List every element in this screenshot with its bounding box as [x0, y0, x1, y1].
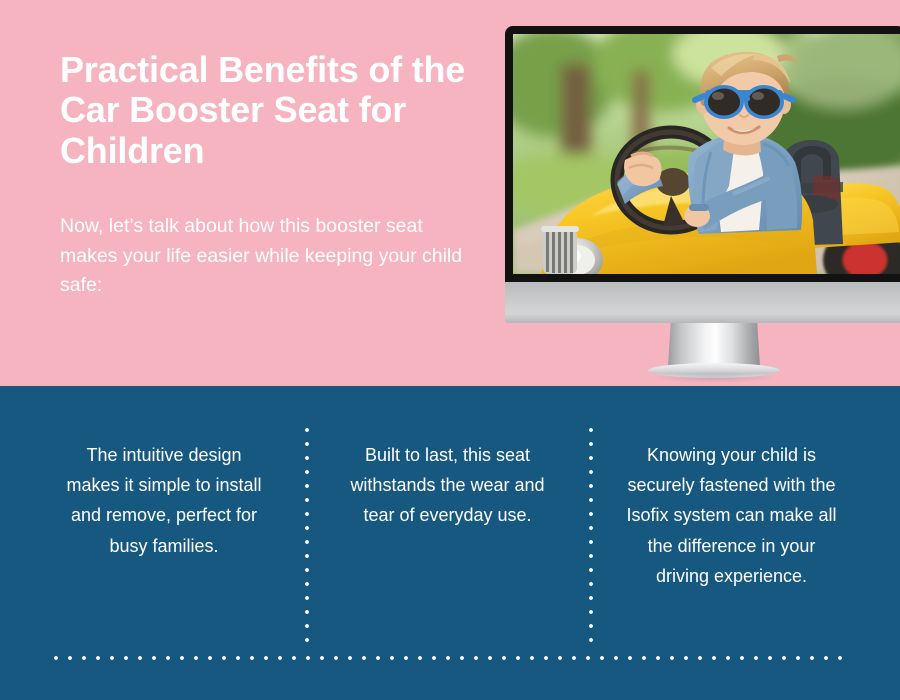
- boy-driving-toy-car-photo: [513, 34, 900, 274]
- benefits-section: The intuitive design makes it simple to …: [0, 386, 900, 700]
- vertical-dotted-divider-2: [589, 428, 593, 650]
- benefit-column-ease-of-install: The intuitive design makes it simple to …: [61, 440, 267, 561]
- page-title: Practical Benefits of the Car Booster Se…: [60, 50, 480, 171]
- desktop-monitor: [505, 26, 900, 378]
- monitor-bezel: [505, 26, 900, 282]
- intro-paragraph: Now, let’s talk about how this booster s…: [60, 212, 475, 301]
- horizontal-dotted-divider: [54, 656, 852, 660]
- benefit-column-isofix-safety: Knowing your child is securely fastened …: [623, 440, 840, 591]
- vertical-dotted-divider-1: [305, 428, 309, 650]
- monitor-screen: [513, 34, 900, 274]
- benefit-column-durability: Built to last, this seat withstands the …: [346, 440, 549, 531]
- monitor-base-shadow: [652, 372, 776, 383]
- monitor-chin: [505, 282, 900, 323]
- monitor-stand-neck: [668, 323, 760, 366]
- infographic-slide: Practical Benefits of the Car Booster Se…: [0, 0, 900, 700]
